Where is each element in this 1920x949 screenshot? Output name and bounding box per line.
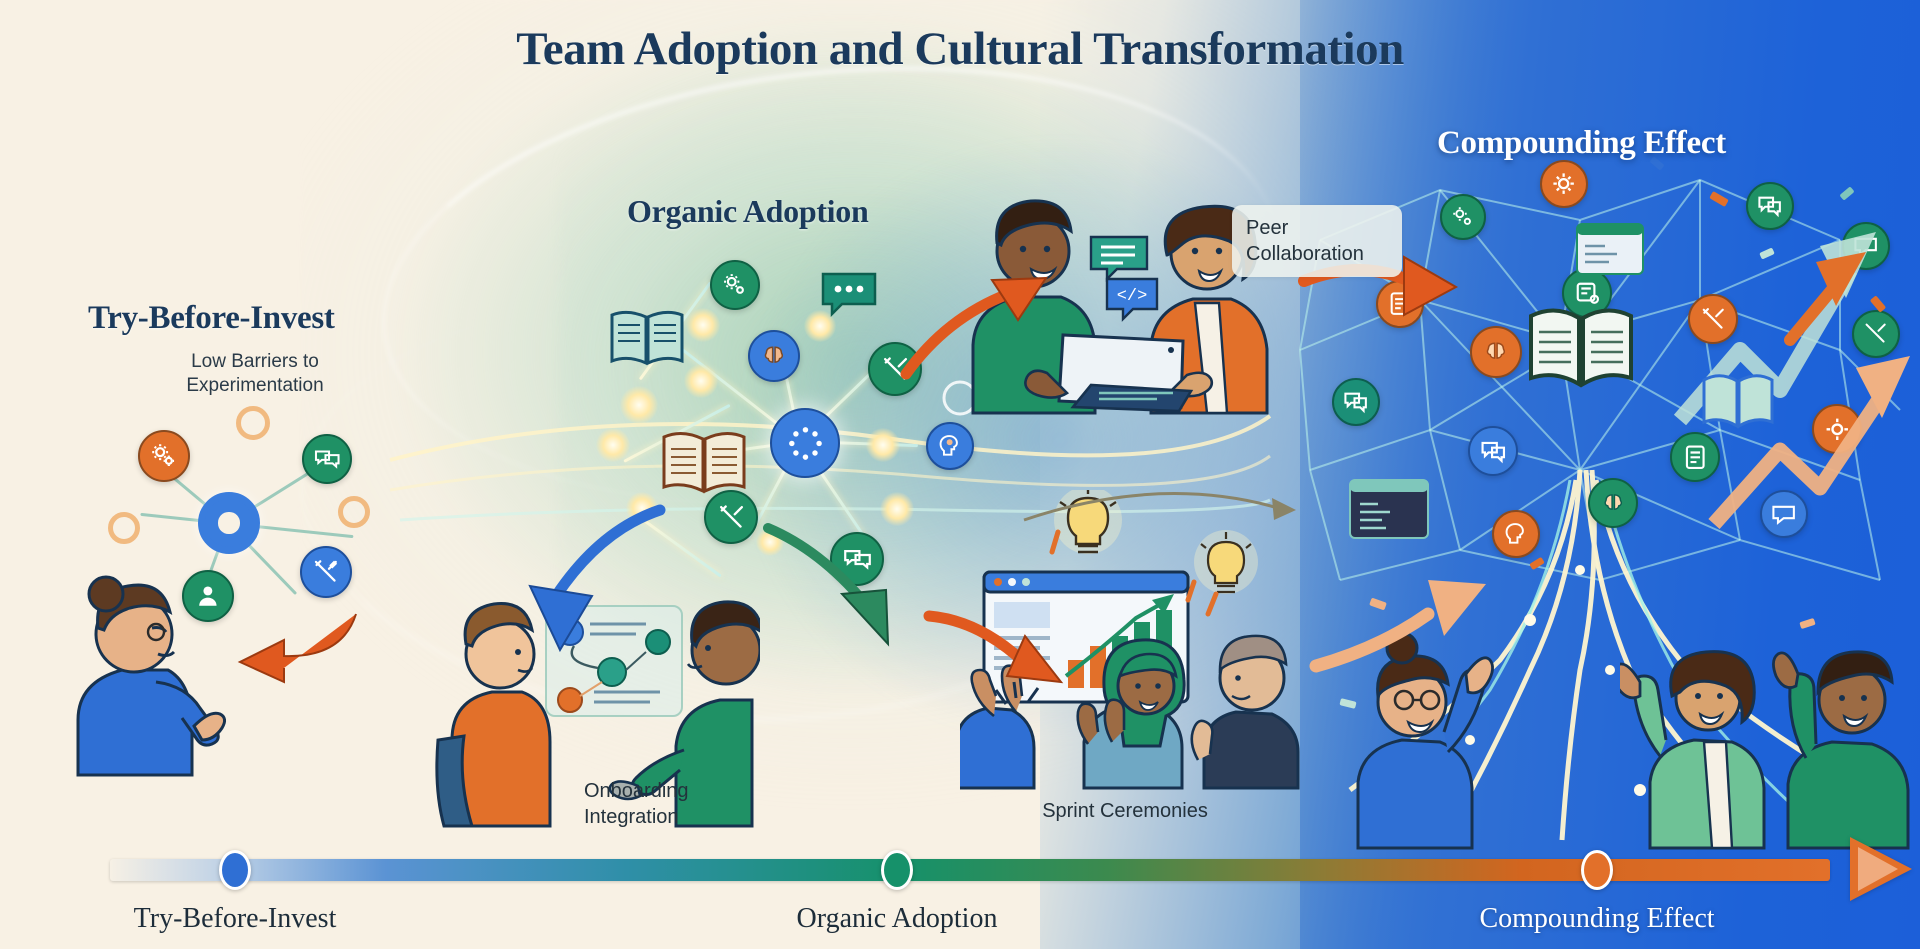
open-book-icon — [1700, 368, 1776, 430]
phase-subtitle-try-before-invest: Low Barriers to Experimentation — [150, 350, 360, 399]
phase-title-compounding-effect: Compounding Effect — [1437, 125, 1726, 162]
open-book-icon — [608, 305, 686, 369]
callout-onboarding-line-1: Onboarding — [584, 778, 736, 804]
timeline-milestone-dot-compounding-effect[interactable] — [1581, 850, 1613, 890]
timeline-label-organic-adoption: Organic Adoption — [797, 903, 998, 935]
arrow-orange-right — [925, 600, 1065, 690]
empty-node-ring — [108, 512, 140, 544]
callout-peer-line-1: Peer — [1246, 215, 1388, 241]
node-spark — [684, 364, 718, 398]
arrow-thin-right — [1020, 480, 1300, 540]
code-window-icon — [1575, 222, 1645, 276]
chat-bubble-icon — [1468, 426, 1518, 476]
empty-node-ring — [338, 496, 370, 528]
gears-icon — [1440, 194, 1486, 240]
phase-subtitle-line-2: Experimentation — [150, 374, 360, 398]
arrow-orange-left — [230, 600, 360, 680]
code-window-icon — [1348, 478, 1430, 540]
phase-subtitle-line-1: Low Barriers to — [150, 350, 360, 374]
callout-peer-line-2: Collaboration — [1246, 241, 1388, 267]
brain-icon — [1588, 478, 1638, 528]
figure-celebrating-people-right — [1620, 630, 1920, 850]
open-book-icon — [660, 425, 748, 497]
node-spark — [620, 386, 658, 424]
arrow-peach-to-compounding — [1310, 570, 1490, 680]
growth-arrows — [1670, 120, 1920, 540]
gears-icon — [1540, 160, 1588, 208]
timeline-label-compounding-effect: Compounding Effect — [1479, 903, 1714, 935]
phase-timeline: Try-Before-Invest Organic Adoption Compo… — [0, 831, 1920, 949]
callout-peer-collaboration: Peer Collaboration — [1232, 205, 1402, 277]
arrow-green-down-left — [760, 520, 910, 660]
arrow-orange-up-right — [900, 270, 1050, 380]
gears-icon — [138, 430, 190, 482]
open-book-icon — [1525, 300, 1637, 390]
callout-sprint-ceremonies: Sprint Ceremonies — [1010, 788, 1240, 834]
callout-onboarding-integration: Onboarding Integration — [570, 768, 750, 840]
svg-text:</>: </> — [1117, 287, 1148, 306]
infographic-canvas: Team Adoption and Cultural Transformatio… — [0, 0, 1920, 949]
arrow-blue-down-left — [490, 500, 670, 660]
chat-bubble-icon — [820, 270, 878, 320]
node-spark — [866, 428, 900, 462]
page-title: Team Adoption and Cultural Transformatio… — [0, 22, 1920, 76]
callout-onboarding-line-2: Integration — [584, 804, 736, 830]
chat-bubble-icon — [1332, 378, 1380, 426]
empty-node-ring — [236, 406, 270, 440]
brain-icon — [1470, 326, 1522, 378]
brain-icon — [748, 330, 800, 382]
network-hub-icon — [770, 408, 840, 478]
gears-icon — [710, 260, 760, 310]
head-brain-icon — [1492, 510, 1540, 558]
phase-title-try-before-invest: Try-Before-Invest — [88, 300, 335, 337]
chat-bubble-icon — [302, 434, 352, 484]
timeline-milestone-dot-organic-adoption[interactable] — [881, 850, 913, 890]
crossed-tools-icon — [300, 546, 352, 598]
head-brain-icon — [926, 422, 974, 470]
node-spark — [686, 308, 720, 342]
phase-title-organic-adoption: Organic Adoption — [627, 193, 868, 230]
timeline-arrow-head-inner — [1858, 847, 1898, 891]
timeline-bar — [110, 859, 1830, 881]
timeline-label-try-before-invest: Try-Before-Invest — [134, 903, 337, 935]
network-hub-icon — [198, 492, 260, 554]
timeline-milestone-dot-try-before-invest[interactable] — [219, 850, 251, 890]
crossed-tools-icon — [704, 490, 758, 544]
node-spark — [596, 428, 630, 462]
